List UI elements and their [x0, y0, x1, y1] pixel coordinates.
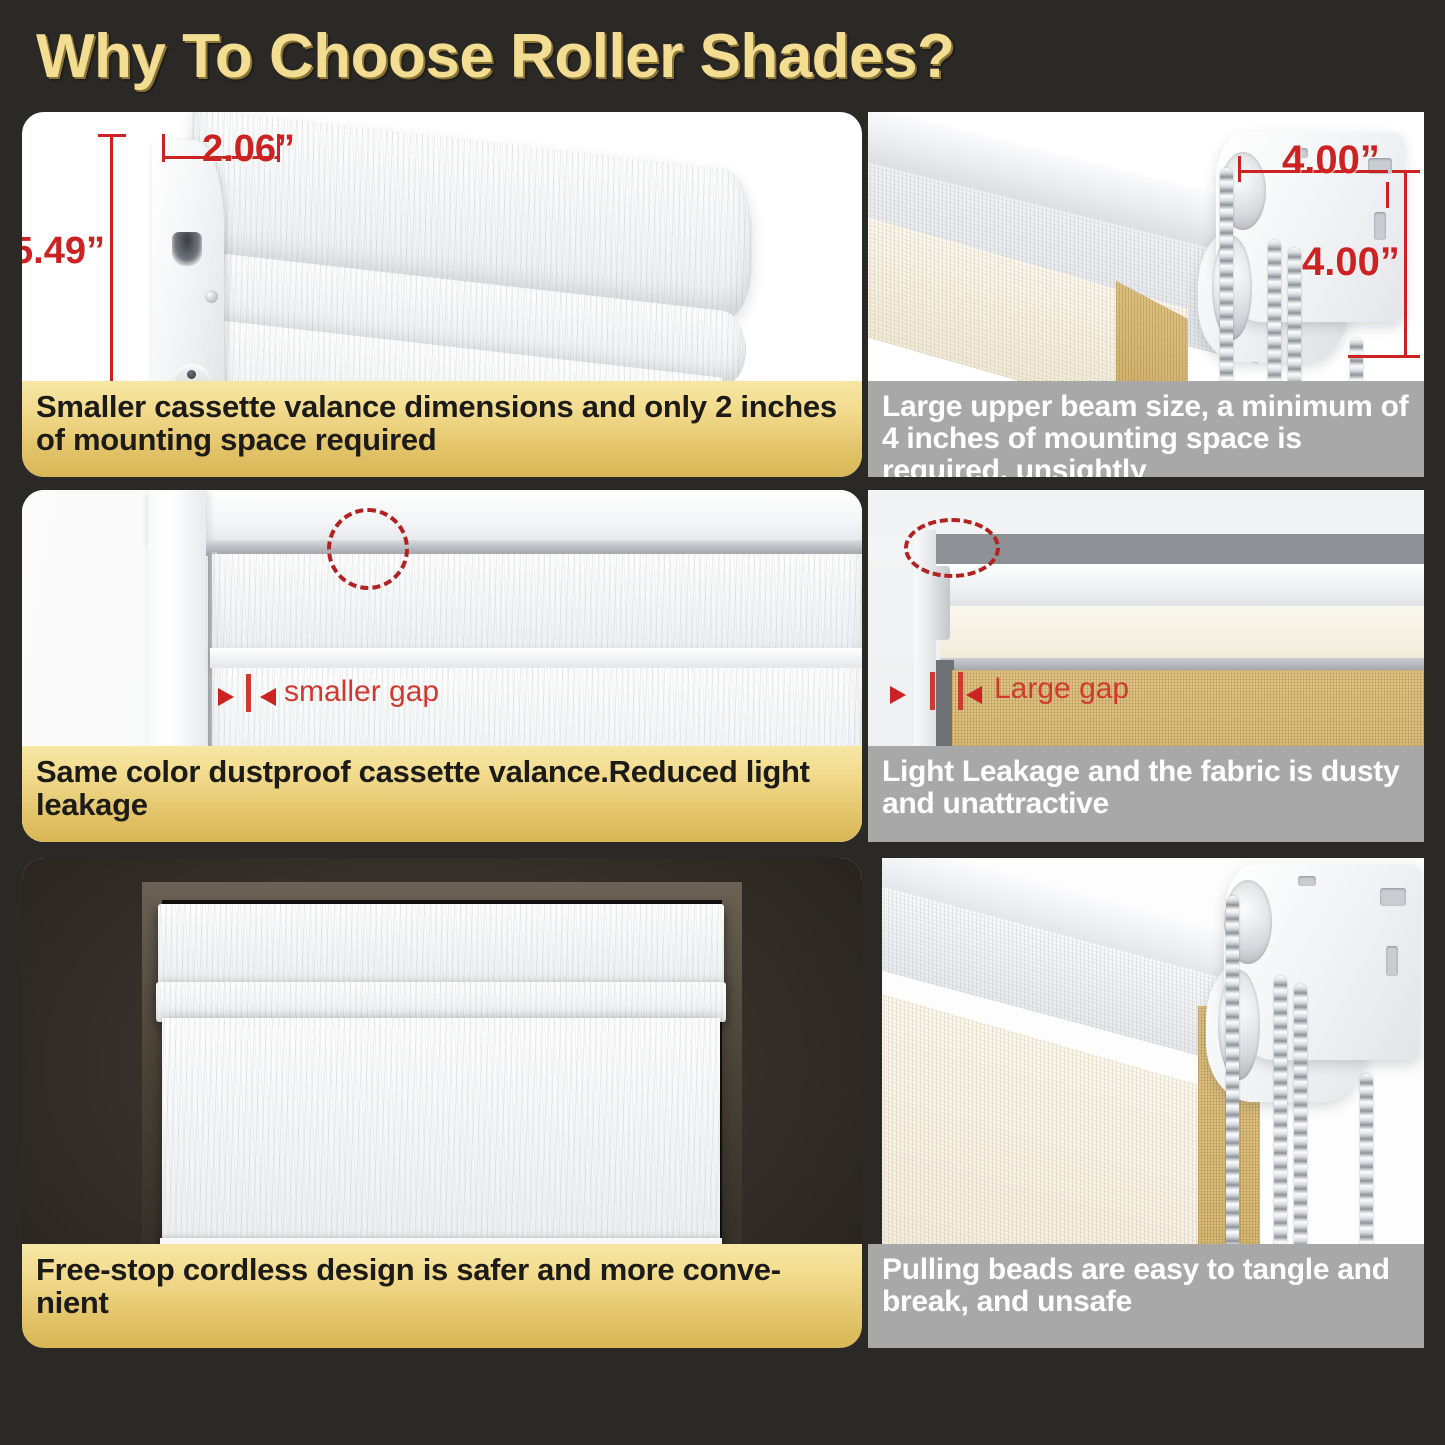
mounting-slot-icon: [1380, 888, 1406, 906]
mounting-hole-icon: [1298, 876, 1316, 886]
gap-arrow-right-icon: [218, 688, 234, 706]
cord-slot-icon: [172, 232, 202, 266]
panel-caption: Smaller cassette valance dimensions and …: [22, 381, 862, 477]
cassette-valance-lip: [210, 648, 862, 668]
height-dimension-tick-top: [1392, 170, 1420, 173]
gap-arrow-left-icon: [260, 688, 276, 706]
height-dimension-tick-bottom: [1348, 355, 1420, 358]
width-dimension-tick-left: [1238, 156, 1241, 182]
panel-light-leakage: Large gap Light Leakage and the fabric i…: [868, 490, 1424, 842]
gap-marker-left: [930, 672, 935, 710]
panel-smaller-cassette-valance: 2.06” 5.49” Smaller cassette valance dim…: [22, 112, 862, 477]
panel-caption: Free-stop cordless design is safer and m…: [22, 1244, 862, 1348]
panel-caption: Large upper beam size, a minimum of 4 in…: [868, 381, 1424, 477]
infographic-page: Why To Choose Roller Shades? 2.06” 5.49”…: [0, 0, 1445, 1445]
roller-end-disc: [1218, 970, 1260, 1080]
cassette-valance-lip: [156, 982, 726, 1022]
panel-pulling-beads: Pulling beads are easy to tangle and bre…: [868, 858, 1424, 1348]
mounting-slot-icon: [1374, 212, 1386, 240]
height-dimension-line: [1404, 170, 1407, 358]
window-casing-top: [148, 490, 862, 542]
width-dimension-label: 2.06”: [202, 128, 295, 171]
gap-marker: [246, 674, 251, 712]
mounting-slot-icon: [1386, 946, 1398, 976]
gap-arrow-left-icon: [966, 686, 982, 704]
height-dimension-label: 4.00”: [1302, 240, 1400, 285]
gap-label: Large gap: [994, 672, 1129, 706]
highlight-ellipse-annotation: [327, 508, 409, 590]
gap-arrow-right-icon: [890, 686, 906, 704]
cream-rail: [940, 606, 1424, 662]
panel-caption: Light Leakage and the fabric is dusty an…: [868, 746, 1424, 842]
gap-label: smaller gap: [284, 675, 439, 709]
cassette-valance: [158, 904, 724, 990]
highlight-ellipse-annotation: [904, 518, 1000, 578]
roller-shade-fabric: [162, 1018, 720, 1248]
width-dimension-label: 4.00”: [1282, 138, 1380, 183]
height-dimension-line: [110, 134, 113, 410]
width-dimension-tick-left: [162, 134, 165, 162]
page-title: Why To Choose Roller Shades?: [36, 18, 1036, 96]
height-dimension-tick-top: [98, 134, 126, 137]
panel-caption: Same color dustproof cassette valance.Re…: [22, 746, 862, 842]
width-dimension-tick-right: [1386, 182, 1389, 208]
panel-free-stop-cordless: Free-stop cordless design is safer and m…: [22, 858, 862, 1348]
panel-large-upper-beam: 4.00” 4.00” Large upper beam size, a min…: [868, 112, 1424, 477]
upper-beam-rail: [930, 564, 1424, 612]
shadow-band: [930, 534, 1424, 568]
height-dimension-label: 5.49”: [22, 230, 105, 273]
screw-icon: [205, 290, 218, 303]
gap-marker-right: [958, 672, 963, 710]
panel-caption: Pulling beads are easy to tangle and bre…: [868, 1244, 1424, 1348]
panel-dustproof-cassette-valance: smaller gap Same color dustproof cassett…: [22, 490, 862, 842]
